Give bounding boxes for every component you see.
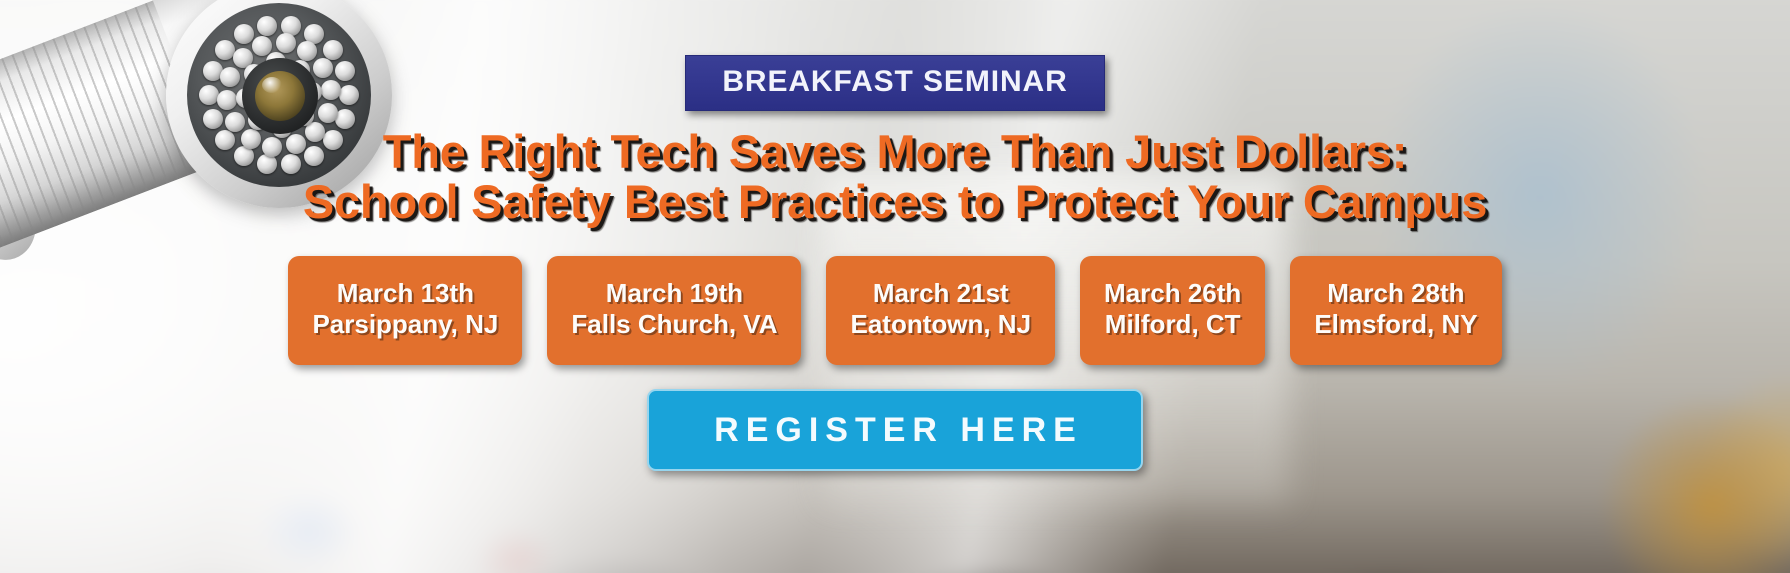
event-location: Parsippany, NJ [312, 309, 498, 341]
event-date-card[interactable]: March 21stEatontown, NJ [826, 256, 1055, 365]
event-date: March 21st [850, 278, 1031, 310]
event-date-card[interactable]: March 13thParsippany, NJ [288, 256, 522, 365]
headline-line-1: The Right Tech Saves More Than Just Doll… [303, 127, 1487, 177]
event-date-card[interactable]: March 28thElmsford, NY [1290, 256, 1501, 365]
headline-line-2: School Safety Best Practices to Protect … [303, 177, 1487, 227]
event-date: March 19th [571, 278, 777, 310]
event-location: Eatontown, NJ [850, 309, 1031, 341]
event-date: March 28th [1314, 278, 1477, 310]
event-location: Milford, CT [1104, 309, 1241, 341]
event-dates-list: March 13thParsippany, NJMarch 19thFalls … [288, 256, 1501, 365]
event-location: Falls Church, VA [571, 309, 777, 341]
register-here-button[interactable]: REGISTER HERE [647, 389, 1143, 471]
seminar-promo-banner: BREAKFAST SEMINAR The Right Tech Saves M… [0, 0, 1790, 573]
event-date: March 26th [1104, 278, 1241, 310]
event-date: March 13th [312, 278, 498, 310]
event-date-card[interactable]: March 19thFalls Church, VA [547, 256, 801, 365]
event-location: Elmsford, NY [1314, 309, 1477, 341]
banner-content: BREAKFAST SEMINAR The Right Tech Saves M… [0, 0, 1790, 573]
seminar-type-badge: BREAKFAST SEMINAR [685, 55, 1104, 111]
page-title: The Right Tech Saves More Than Just Doll… [303, 127, 1487, 228]
event-date-card[interactable]: March 26thMilford, CT [1080, 256, 1265, 365]
